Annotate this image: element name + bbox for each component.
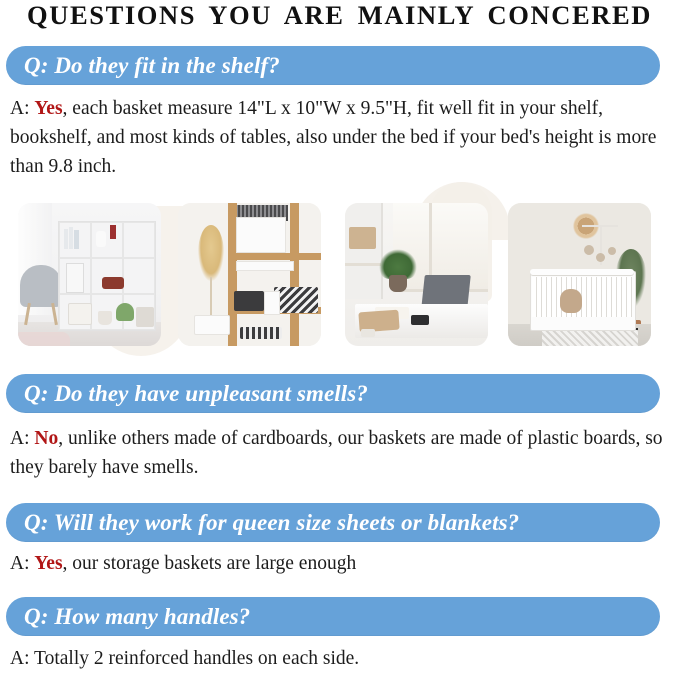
book [69,227,73,249]
striped-basket [274,287,318,313]
bed-rail [228,253,321,260]
faq-answer-rest-1: , each basket measure 14"L x 10"W x 9.5"… [10,98,656,177]
toy-car [102,277,124,289]
potted-plant [116,303,134,321]
faq-question-text-4: Q: How many handles? [24,604,250,630]
faq-question-banner-3[interactable]: Q: Will they work for queen size sheets … [6,503,660,542]
wall-shelf [236,261,294,271]
figurine [96,231,106,247]
gallery-photo-1[interactable] [18,203,161,346]
dark-basket [234,291,264,311]
camera [411,315,429,325]
chair [20,265,62,307]
faq-answer-highlight-2: No [34,428,58,449]
gallery-photo-4-scene [508,203,651,346]
faq-answer-rest-2: , unlike others made of cardboards, our … [10,428,663,478]
faq-answer-prefix-1: A: [10,98,34,119]
faq-question-banner-1[interactable]: Q: Do they fit in the shelf? [6,46,660,85]
gallery-photo-2-scene [178,203,321,346]
mobile-toy [608,247,616,255]
vase-stem [210,277,212,317]
white-basket [264,291,280,315]
gallery-photo-3-scene [345,203,488,346]
faq-answer-prefix-2: A: [10,428,34,449]
rug [18,332,70,346]
faq-answer-rest-3: , our storage baskets are large enough [63,553,357,574]
faq-answer-highlight-3: Yes [34,553,62,574]
gallery-photo-1-scene [18,203,161,346]
book [64,229,68,249]
mobile-toy [596,253,605,262]
dried-pampas [198,225,224,281]
faq-question-text-1: Q: Do they fit in the shelf? [24,53,280,79]
striped-basket [240,327,282,339]
mobile-toy [584,245,594,255]
faq-answer-1: A: Yes, each basket measure 14"L x 10"W … [10,94,674,181]
faq-answer-3: A: Yes, our storage baskets are large en… [10,549,674,578]
faq-question-text-2: Q: Do they have unpleasant smells? [24,381,368,407]
gallery-photo-4[interactable] [508,203,651,346]
faq-answer-prefix-4: A: Totally 2 reinforced handles on each … [10,648,359,669]
toy-flag [110,225,116,239]
faq-answer-prefix-3: A: [10,553,34,574]
faq-answer-highlight-1: Yes [34,98,62,119]
faq-question-text-3: Q: Will they work for queen size sheets … [24,510,519,536]
plant-pot [389,275,407,292]
teddy-bear [560,289,582,313]
faq-answer-4: A: Totally 2 reinforced handles on each … [10,644,674,673]
cardboard-box [349,227,376,249]
crib-bars [532,277,632,317]
crib-mobile-arm [582,225,618,227]
gallery-photo-2[interactable] [178,203,321,346]
woven-basket [68,303,92,325]
storage-basket [136,307,154,327]
vase [194,315,230,335]
faq-question-banner-4[interactable]: Q: How many handles? [6,597,660,636]
wall-shelf [236,217,286,253]
faq-page: QUESTIONS YOU ARE MAINLY CONCERED Q: Do … [0,0,679,671]
file-box [66,263,84,293]
shelf-divider [345,263,381,266]
plant-pot [98,311,112,325]
faq-answer-2: A: No, unlike others made of cardboards,… [10,424,674,482]
faq-question-banner-2[interactable]: Q: Do they have unpleasant smells? [6,374,660,413]
crib-rail [530,269,634,275]
side-shelf [345,203,383,299]
book [74,230,79,249]
tape-roll [361,329,375,337]
gallery-photo-3[interactable] [345,203,488,346]
page-title: QUESTIONS YOU ARE MAINLY CONCERED [0,0,679,32]
bed-post [290,203,299,346]
